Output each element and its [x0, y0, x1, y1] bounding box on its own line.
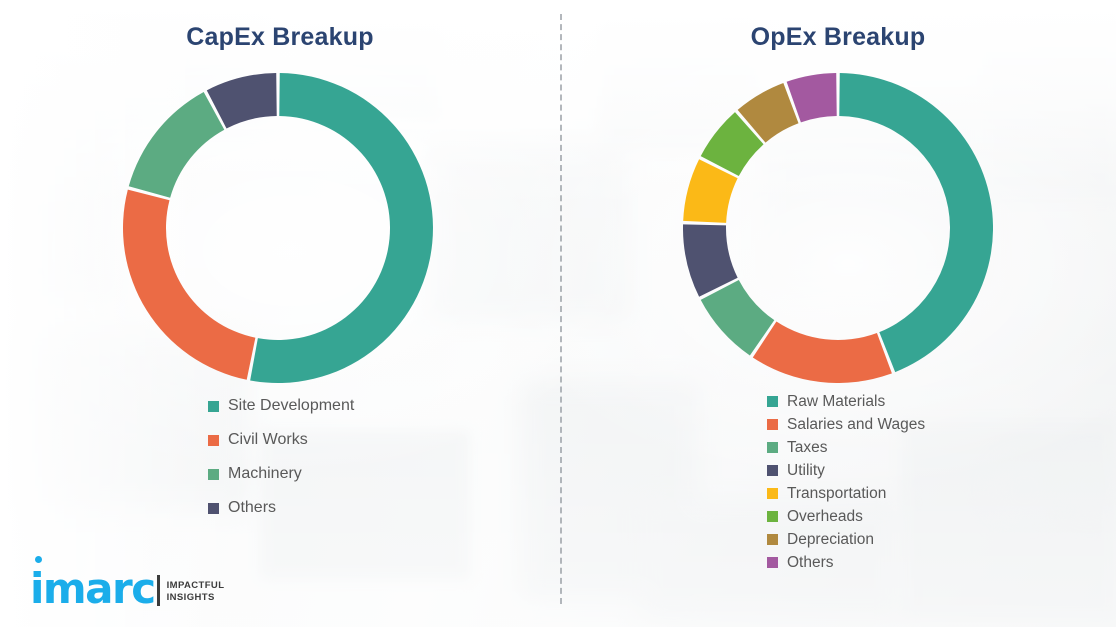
slide-canvas: CapEx Breakup Site Development Civil Wor…: [0, 0, 1116, 627]
legend-swatch-overheads: [767, 511, 778, 522]
legend-label: Site Development: [228, 397, 354, 415]
legend-swatch-depreciation: [767, 534, 778, 545]
donut-slice[interactable]: [129, 92, 225, 198]
legend-label: Others: [228, 499, 276, 517]
capex-donut-svg: [123, 73, 433, 383]
legend-swatch-others: [767, 557, 778, 568]
logo-separator-bar: [157, 575, 160, 606]
logo-tagline: IMPACTFUL INSIGHTS: [167, 580, 225, 604]
opex-donut-chart: [683, 73, 993, 383]
legend-label: Transportation: [787, 485, 886, 503]
legend-swatch-taxes: [767, 442, 778, 453]
legend-swatch-salaries-and-wages: [767, 419, 778, 430]
legend-item[interactable]: Others: [208, 491, 354, 525]
legend-label: Overheads: [787, 508, 863, 526]
legend-swatch-utility: [767, 465, 778, 476]
legend-label: Depreciation: [787, 531, 874, 549]
imarc-logo: imarc IMPACTFUL INSIGHTS: [30, 568, 224, 610]
legend-item[interactable]: Taxes: [767, 436, 925, 459]
logo-wordmark: imarc: [30, 568, 155, 610]
legend-item[interactable]: Salaries and Wages: [767, 413, 925, 436]
logo-wordmark-text: imarc: [30, 564, 155, 613]
donut-slice[interactable]: [753, 322, 892, 383]
logo-tagline-line2: INSIGHTS: [167, 592, 225, 604]
legend-item[interactable]: Transportation: [767, 482, 925, 505]
legend-item[interactable]: Overheads: [767, 505, 925, 528]
legend-swatch-machinery: [208, 469, 219, 480]
capex-legend: Site Development Civil Works Machinery O…: [208, 389, 354, 525]
legend-label: Raw Materials: [787, 393, 885, 411]
opex-slice-group: [683, 73, 993, 383]
legend-item[interactable]: Raw Materials: [767, 390, 925, 413]
legend-label: Taxes: [787, 439, 828, 457]
capex-slice-group: [123, 73, 433, 383]
legend-item[interactable]: Others: [767, 551, 925, 574]
legend-item[interactable]: Depreciation: [767, 528, 925, 551]
legend-swatch-transportation: [767, 488, 778, 499]
legend-label: Civil Works: [228, 431, 308, 449]
donut-slice[interactable]: [839, 73, 993, 372]
capex-donut-chart: [123, 73, 433, 383]
legend-label: Salaries and Wages: [787, 416, 925, 434]
opex-donut-svg: [683, 73, 993, 383]
legend-swatch-raw-materials: [767, 396, 778, 407]
legend-item[interactable]: Utility: [767, 459, 925, 482]
capex-title: CapEx Breakup: [0, 23, 560, 52]
legend-item[interactable]: Site Development: [208, 389, 354, 423]
legend-label: Machinery: [228, 465, 302, 483]
opex-title: OpEx Breakup: [560, 23, 1116, 52]
legend-swatch-site-development: [208, 401, 219, 412]
logo-tagline-line1: IMPACTFUL: [167, 580, 225, 592]
legend-swatch-others: [208, 503, 219, 514]
donut-slice[interactable]: [250, 73, 433, 383]
legend-label: Others: [787, 554, 834, 572]
capex-panel: CapEx Breakup Site Development Civil Wor…: [0, 0, 560, 627]
logo-dot-icon: [35, 556, 42, 563]
opex-legend: Raw Materials Salaries and Wages Taxes U…: [767, 390, 925, 574]
donut-slice[interactable]: [123, 190, 255, 380]
legend-item[interactable]: Civil Works: [208, 423, 354, 457]
opex-panel: OpEx Breakup Raw Materials Salaries and …: [560, 0, 1116, 627]
legend-swatch-civil-works: [208, 435, 219, 446]
legend-label: Utility: [787, 462, 825, 480]
legend-item[interactable]: Machinery: [208, 457, 354, 491]
